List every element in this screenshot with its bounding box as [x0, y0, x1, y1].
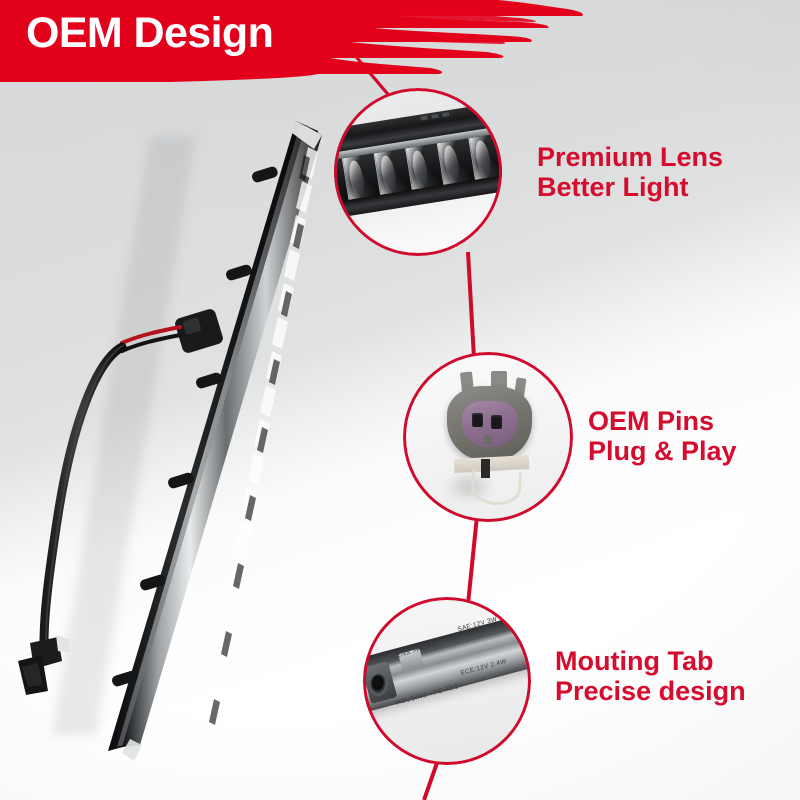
callout-pins-photo	[403, 352, 573, 522]
caption-tab-line1: Mouting Tab	[555, 646, 746, 676]
callout-lens-photo	[334, 88, 502, 256]
product-image	[0, 95, 360, 785]
caption-pins-line1: OEM Pins	[588, 406, 737, 436]
caption-pins: OEM Pins Plug & Play	[588, 406, 737, 466]
caption-lens-line2: Better Light	[537, 172, 723, 202]
inline-connector	[174, 308, 225, 355]
caption-lens: Premium Lens Better Light	[537, 142, 723, 202]
page-title: OEM Design	[26, 12, 273, 55]
pin-hole-right	[491, 415, 502, 429]
connector-body	[447, 386, 532, 461]
callout-circle-pins	[403, 352, 573, 522]
callout-tab-photo: LENS >PMMA< HOUSING >PC-ABS< SAE:12V 3W …	[363, 597, 531, 765]
caption-lens-line1: Premium Lens	[537, 142, 723, 172]
callout-circle-lens	[334, 88, 502, 256]
mounting-hole	[370, 674, 387, 696]
caption-pins-line2: Plug & Play	[588, 436, 737, 466]
product-infographic: Premium Lens Better Light OEM Pins	[0, 0, 800, 800]
caption-mounting-tab: Mouting Tab Precise design	[555, 646, 746, 706]
header-banner: OEM Design	[0, 0, 665, 84]
connector-cavity	[462, 401, 516, 447]
caption-tab-line2: Precise design	[555, 676, 746, 706]
callout-circle-mounting-tab: LENS >PMMA< HOUSING >PC-ABS< SAE:12V 3W …	[363, 597, 531, 765]
pin-hole-left	[472, 413, 483, 427]
